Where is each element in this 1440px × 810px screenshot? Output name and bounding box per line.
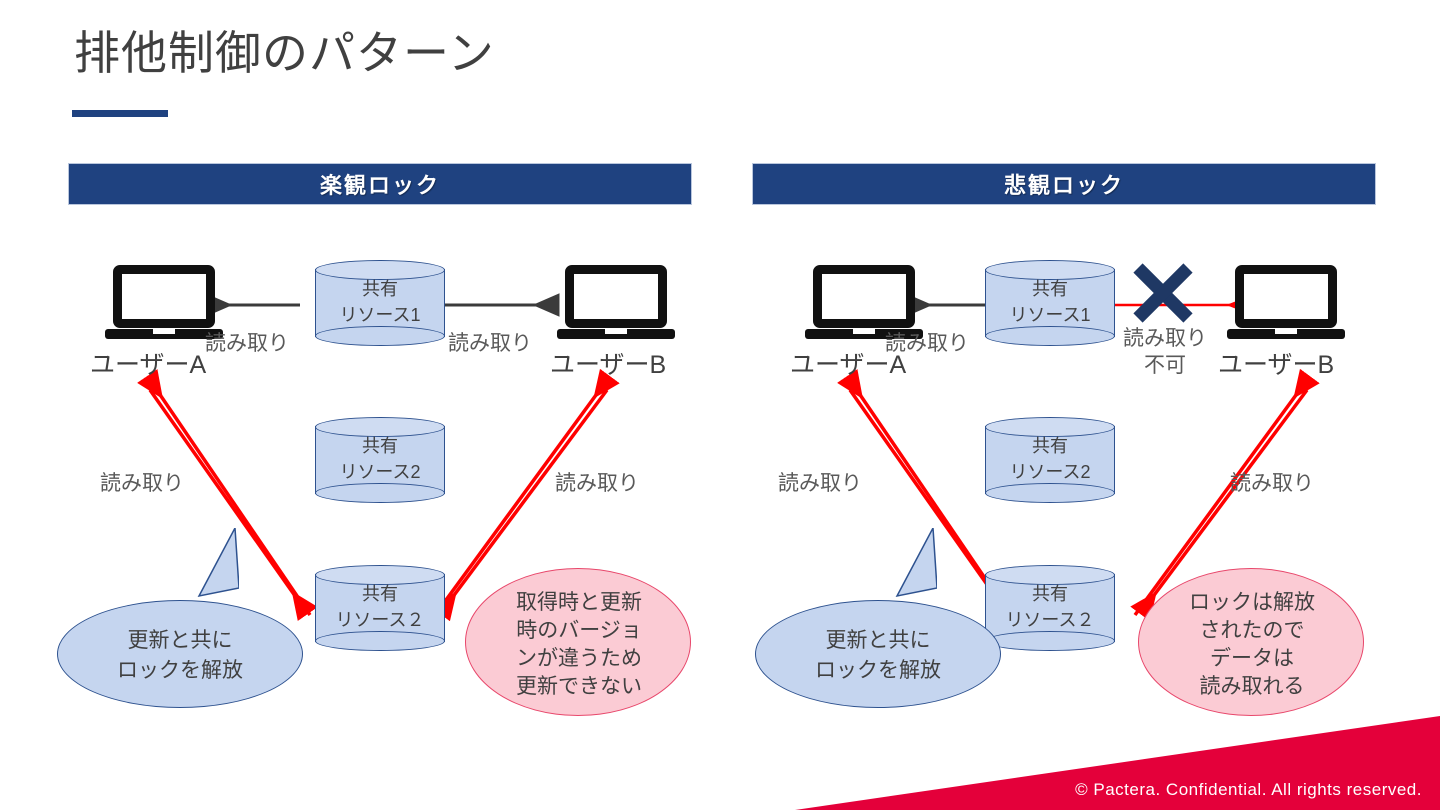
laptop-notch bbox=[153, 329, 175, 334]
note-ellipse-lock-released: ロックは解放 されたので データは 読み取れる bbox=[1138, 568, 1364, 716]
read-label-blocked: 読み取り 不可 bbox=[1110, 325, 1220, 379]
read-label-top-left: 読み取り bbox=[205, 330, 289, 357]
cylinder-bottom bbox=[985, 326, 1115, 346]
note-ellipse-text: 取得時と更新 時のバージョ ンが違うため 更新できない bbox=[466, 589, 692, 701]
database-cylinder-resource-2-middle: 共有 リソース2 bbox=[985, 417, 1115, 503]
diagram-panel-pessimistic: ユーザーA ユーザーB 共有 リソース1 共有 リソース2 bbox=[700, 225, 1400, 745]
laptop-screen bbox=[565, 265, 667, 328]
read-label-bottom-left: 読み取り bbox=[100, 470, 184, 497]
user-label-a: ユーザーA bbox=[90, 345, 206, 381]
blocked-x-icon bbox=[1130, 261, 1196, 325]
note-ellipse-version-conflict: 取得時と更新 時のバージョ ンが違うため 更新できない bbox=[465, 568, 691, 716]
cylinder-bottom bbox=[315, 326, 445, 346]
slide-canvas: 排他制御のパターン 楽観ロック 悲観ロック bbox=[0, 0, 1440, 810]
read-label-bottom-right: 読み取り bbox=[555, 470, 639, 497]
cylinder-label: 共有 リソース1 bbox=[985, 276, 1115, 328]
cylinder-label: 共有 リソース２ bbox=[315, 581, 445, 633]
panel-header-pessimistic: 悲観ロック bbox=[752, 163, 1376, 205]
laptop-screen bbox=[1235, 265, 1337, 328]
footer-copyright: © Pactera. Confidential. All rights rese… bbox=[1075, 780, 1422, 800]
cylinder-bottom bbox=[315, 483, 445, 503]
cylinder-label: 共有 リソース1 bbox=[315, 276, 445, 328]
cylinder-label: 共有 リソース２ bbox=[985, 581, 1115, 633]
callout-tail bbox=[177, 528, 239, 608]
user-label-b: ユーザーB bbox=[550, 345, 666, 381]
database-cylinder-resource-2-bottom: 共有 リソース２ bbox=[315, 565, 445, 651]
panel-header-optimistic-label: 楽観ロック bbox=[320, 168, 440, 200]
note-ellipse-text: ロックは解放 されたので データは 読み取れる bbox=[1139, 589, 1365, 701]
laptop-icon-user-b bbox=[1227, 265, 1345, 343]
laptop-icon-user-b bbox=[557, 265, 675, 343]
laptop-notch bbox=[853, 329, 875, 334]
callout-release-lock-optimistic: 更新と共に ロックを解放 bbox=[57, 600, 303, 708]
laptop-screen bbox=[813, 265, 915, 328]
database-cylinder-resource-2-bottom: 共有 リソース２ bbox=[985, 565, 1115, 651]
panel-header-optimistic: 楽観ロック bbox=[68, 163, 692, 205]
laptop-screen bbox=[113, 265, 215, 328]
callout-release-lock-pessimistic: 更新と共に ロックを解放 bbox=[755, 600, 1001, 708]
read-label-top-left: 読み取り bbox=[885, 330, 969, 357]
read-label-bottom-right: 読み取り bbox=[1230, 470, 1314, 497]
database-cylinder-resource-2-middle: 共有 リソース2 bbox=[315, 417, 445, 503]
user-label-b: ユーザーB bbox=[1218, 345, 1334, 381]
callout-tail bbox=[875, 528, 937, 608]
callout-text: 更新と共に ロックを解放 bbox=[57, 626, 303, 686]
database-cylinder-resource-1: 共有 リソース1 bbox=[985, 260, 1115, 346]
panel-header-pessimistic-label: 悲観ロック bbox=[1004, 168, 1124, 200]
diagram-panel-optimistic: ユーザーA ユーザーB 共有 リソース1 共有 リソース2 共有 リソ bbox=[0, 225, 700, 745]
laptop-notch bbox=[605, 329, 627, 334]
cylinder-label: 共有 リソース2 bbox=[315, 433, 445, 485]
laptop-notch bbox=[1275, 329, 1297, 334]
cylinder-bottom bbox=[985, 631, 1115, 651]
callout-text: 更新と共に ロックを解放 bbox=[755, 626, 1001, 686]
read-label-bottom-left: 読み取り bbox=[778, 470, 862, 497]
title-underline-accent bbox=[72, 110, 168, 117]
cylinder-label: 共有 リソース2 bbox=[985, 433, 1115, 485]
page-title: 排他制御のパターン bbox=[74, 24, 495, 82]
cylinder-bottom bbox=[985, 483, 1115, 503]
database-cylinder-resource-1: 共有 リソース1 bbox=[315, 260, 445, 346]
cylinder-bottom bbox=[315, 631, 445, 651]
read-label-top-right: 読み取り bbox=[448, 330, 532, 357]
